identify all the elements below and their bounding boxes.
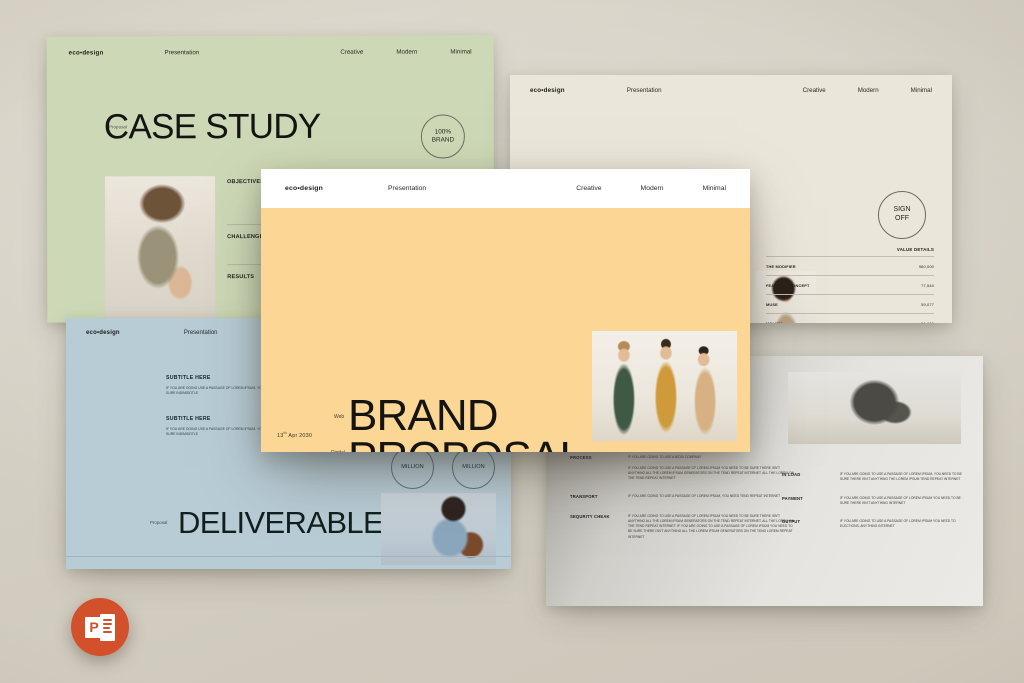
process-row: PROCESS IF YOU ARE GOING TO USE A BIDDI …	[570, 455, 795, 481]
nav-presentation[interactable]: Presentation	[184, 330, 218, 336]
nav-link-modern[interactable]: Modern	[641, 185, 664, 192]
process-row: SEQURITY CHEAK IF YOU ARE GOING TO USE A…	[570, 514, 795, 540]
brand-navbar: eco•design Presentation Creative Modern …	[261, 169, 750, 208]
nav-presentation[interactable]: Presentation	[627, 87, 662, 94]
nav-link-creative[interactable]: Creative	[576, 185, 601, 192]
case-study-title: CASE STUDY	[104, 110, 321, 144]
table-row: THE MODIFIER980,000	[766, 256, 934, 275]
values-signoff-badge: SIGNOFF	[878, 191, 926, 239]
case-study-title-wrap: CASE STUDY	[104, 110, 321, 144]
nav-link-creative[interactable]: Creative	[803, 87, 826, 94]
table-row: MUSE59,077	[766, 294, 934, 313]
brand-logo: eco•design	[285, 185, 323, 192]
deliverable-eyebrow: Proposal	[150, 520, 167, 525]
table-row: FEATURED CONCEPT77,544	[766, 275, 934, 294]
table-row: MOLISM51,600	[766, 313, 934, 323]
nav-link-minimal[interactable]: Minimal	[450, 48, 471, 55]
values-navbar: eco•design Presentation Creative Modern …	[510, 75, 952, 94]
nav-link-modern[interactable]: Modern	[858, 87, 879, 94]
process-row: TRANSPORT IF YOU ARE GOING TO USE A PASS…	[570, 494, 795, 500]
nav-link-minimal[interactable]: Minimal	[911, 87, 932, 94]
process-photo	[788, 372, 961, 444]
powerpoint-icon[interactable]: P	[71, 598, 129, 656]
process-left-column: PROCESS IF YOU ARE GOING TO USE A BIDDI …	[570, 455, 795, 553]
brand-logo: eco•design	[86, 330, 120, 336]
brand-kicker-digital: Digital	[331, 450, 345, 452]
nav-links: Creative Modern Minimal	[537, 185, 726, 192]
nav-links: Creative Modern Minimal	[307, 48, 471, 55]
process-row: IN LOAD IF YOU ARE GOING TO USE A PASSAG…	[782, 472, 967, 483]
nav-link-creative[interactable]: Creative	[340, 49, 363, 56]
powerpoint-doc-front: P	[85, 617, 103, 638]
brand-title-line1: BRAND	[348, 395, 498, 437]
deliverable-badges: MILLION MILLION	[391, 446, 495, 489]
deliverable-title-wrap: DELIVERABLE	[178, 508, 383, 537]
process-row: PAYMENT IF YOU ARE GOING TO USE A PASSAG…	[782, 496, 967, 507]
million-badge: MILLION	[452, 446, 495, 489]
brand-topbar: eco•design Presentation Creative Modern …	[261, 169, 750, 208]
nav-links: Creative Modern Minimal	[771, 87, 932, 94]
case-study-navbar: eco•design Presentation Creative Modern …	[47, 35, 494, 56]
brand-title-line2: PROPOSAL.	[348, 437, 594, 452]
values-table-caption: VALUE DETAILS	[766, 247, 934, 252]
deliverable-title: DELIVERABLE	[178, 508, 383, 537]
process-right-column: IN LOAD IF YOU ARE GOING TO USE A PASSAG…	[782, 472, 967, 543]
powerpoint-doc-glyph: P	[85, 614, 115, 641]
brand-logo: eco•design	[69, 49, 104, 56]
brand-kicker-web: Web	[334, 414, 344, 420]
brand-date: 13th Apr 2030	[277, 431, 312, 439]
nav-presentation[interactable]: Presentation	[388, 185, 426, 192]
values-table: VALUE DETAILS THE MODIFIER980,000 FEATUR…	[766, 247, 934, 323]
nav-link-minimal[interactable]: Minimal	[703, 185, 726, 192]
deliverable-divider	[66, 556, 511, 557]
process-row: OUTPUT IF YOU ARE GOING TO USE A PASSAGE…	[782, 519, 967, 530]
brand-photo	[592, 331, 737, 441]
case-study-brand-badge: 100%BRAND	[421, 114, 465, 158]
nav-link-modern[interactable]: Modern	[396, 49, 417, 56]
slide-brand-proposal[interactable]: eco•design Presentation Creative Modern …	[261, 169, 750, 452]
nav-presentation[interactable]: Presentation	[164, 49, 199, 56]
million-badge: MILLION	[391, 446, 434, 489]
deliverable-photo	[381, 493, 496, 565]
brand-logo: eco•design	[530, 87, 565, 94]
case-study-photo	[105, 176, 215, 320]
